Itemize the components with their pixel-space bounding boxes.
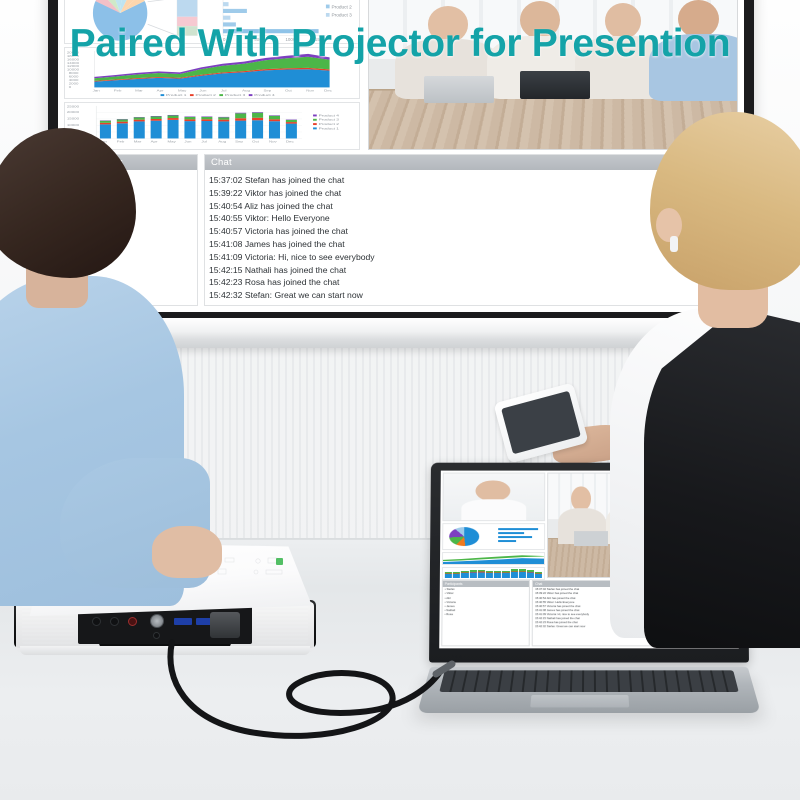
svg-text:Oct: Oct	[285, 89, 292, 92]
attendee-4-head	[678, 0, 718, 38]
svg-text:Product 3: Product 3	[319, 119, 339, 122]
mini-self-body	[462, 499, 527, 520]
svg-text:Product 1: Product 1	[331, 0, 352, 2]
mini-bar-4	[498, 540, 516, 542]
mini-bar-1	[498, 528, 538, 530]
chart-stacked-area: 0 2000 4000 6000 8000 10000 12000 14000 …	[64, 47, 360, 99]
svg-text:10000: 10000	[67, 124, 79, 127]
svg-text:4000: 4000	[69, 79, 79, 82]
pie-of-pie-chart: 0 5000 10000 15000 Product 1 Product	[65, 0, 359, 43]
svg-text:0: 0	[69, 86, 72, 89]
svg-text:Oct: Oct	[252, 140, 259, 143]
svg-text:10000: 10000	[286, 37, 299, 42]
svg-text:8000: 8000	[69, 72, 79, 75]
svg-text:5000: 5000	[254, 37, 264, 42]
mini-bar-3	[498, 536, 532, 538]
attendee-4-body	[649, 34, 738, 100]
scene: 0 5000 10000 15000 Product 1 Product	[0, 0, 800, 800]
svg-text:0: 0	[223, 37, 226, 42]
svg-text:15000: 15000	[67, 118, 79, 121]
svg-text:6000: 6000	[69, 76, 79, 79]
mini-bar-2	[498, 532, 524, 534]
svg-text:Sep: Sep	[263, 89, 271, 92]
legend-horizontal-bars: Product 1 Product 2 Product 3	[326, 0, 352, 19]
svg-text:Nov: Nov	[306, 89, 314, 92]
svg-text:Jun: Jun	[184, 140, 191, 143]
svg-text:Product 2: Product 2	[319, 123, 339, 126]
svg-text:Product 1: Product 1	[166, 94, 186, 97]
person-right-hair	[650, 112, 800, 290]
svg-text:18000: 18000	[67, 55, 79, 58]
svg-text:14000: 14000	[67, 62, 79, 65]
svg-text:Jun: Jun	[199, 89, 206, 92]
svg-text:Product 4: Product 4	[254, 94, 274, 97]
svg-text:Sep: Sep	[235, 140, 243, 143]
svg-text:Apr: Apr	[157, 89, 165, 92]
svg-text:Product 3: Product 3	[331, 13, 352, 19]
svg-text:15000: 15000	[315, 37, 328, 42]
svg-text:2000: 2000	[69, 83, 79, 86]
mini-self-head	[476, 480, 510, 501]
svg-text:Jul: Jul	[201, 140, 207, 143]
person-left-hand	[152, 526, 222, 578]
svg-text:Feb: Feb	[114, 89, 122, 92]
svg-text:Dec: Dec	[286, 140, 294, 143]
mini-pie-bar	[442, 523, 545, 549]
svg-text:Nov: Nov	[269, 140, 277, 143]
legend-stacked-bars: Product 4 Product 3 Product 2 Product 1	[313, 114, 339, 130]
stacked-area-chart: 0 2000 4000 6000 8000 10000 12000 14000 …	[65, 48, 359, 98]
attendee-1-head	[428, 6, 468, 43]
attendee-laptop-2	[520, 71, 590, 99]
svg-text:20000: 20000	[67, 51, 79, 54]
chart-pie-and-bars: 0 5000 10000 15000 Product 1 Product	[64, 0, 360, 44]
svg-text:Aug: Aug	[218, 140, 226, 143]
svg-text:20000: 20000	[67, 111, 79, 114]
mini-pie	[449, 527, 479, 546]
legend-stacked-area: Product 1 Product 2 Product 3 Product 4	[161, 94, 275, 97]
person-left-hair	[0, 128, 136, 278]
svg-text:Dec: Dec	[324, 89, 332, 92]
svg-text:16000: 16000	[67, 58, 79, 61]
svg-text:Mar: Mar	[135, 89, 144, 92]
person-right-earring	[670, 236, 678, 252]
svg-text:25000: 25000	[67, 105, 79, 108]
person-left	[0, 128, 174, 598]
mini-self-view	[442, 473, 545, 521]
svg-text:Product 2: Product 2	[331, 4, 352, 10]
svg-text:12000: 12000	[67, 65, 79, 68]
svg-text:Product 4: Product 4	[319, 114, 339, 117]
svg-text:Product 3: Product 3	[225, 94, 245, 97]
attendee-laptop-1	[424, 76, 494, 103]
svg-text:Product 1: Product 1	[319, 127, 339, 130]
svg-text:May: May	[178, 89, 187, 92]
person-right-ear	[656, 208, 682, 242]
svg-text:10000: 10000	[67, 69, 79, 72]
person-right	[614, 112, 800, 612]
svg-text:Jul: Jul	[221, 89, 227, 92]
svg-text:Jan: Jan	[93, 89, 100, 92]
svg-text:Product 2: Product 2	[195, 94, 215, 97]
svg-text:Aug: Aug	[242, 89, 250, 92]
